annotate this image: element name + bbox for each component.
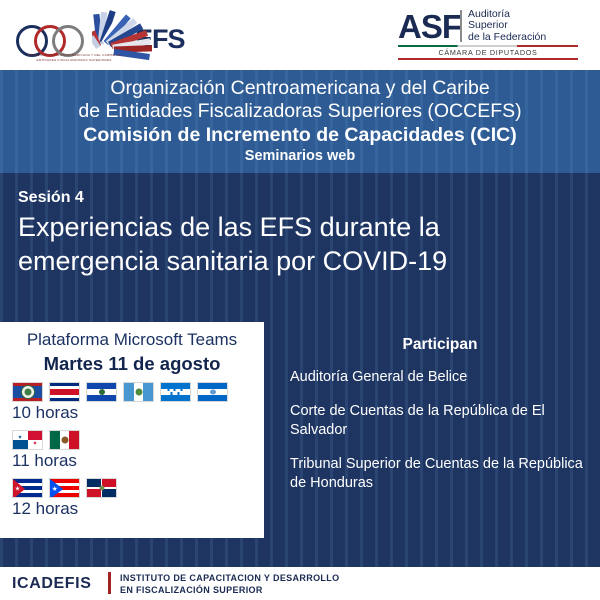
- header-line-1: Organización Centroamericana y del Carib…: [0, 77, 600, 100]
- flag-guatemala: [123, 382, 154, 402]
- flag-mexico: [49, 430, 80, 450]
- flag-nicaragua: [197, 382, 228, 402]
- asf-logo: ASF Auditoría Superior de la Federación …: [398, 8, 578, 60]
- footer-band: ICADEFIS Instituto de Capacitacion y Des…: [0, 567, 600, 600]
- logo-band: OCCEFS: [0, 0, 600, 70]
- occefs-logo: OCCEFS: [14, 6, 174, 66]
- icadefis-wordmark: ICADEFIS: [12, 575, 91, 593]
- schedule-rows: 10 horas: [12, 382, 262, 526]
- date-label: Martes 11 de agosto: [0, 353, 264, 375]
- flag-costa-rica: [49, 382, 80, 402]
- poster-canvas: Organización Centroamericana y del Carib…: [0, 0, 600, 600]
- icadefis-divider: [108, 572, 111, 594]
- session-label: Sesión 4: [18, 188, 588, 208]
- icadefis-tagline-line-1: Instituto de Capacitacion y Desarrollo: [120, 573, 339, 585]
- flag-group-10-horas: [12, 382, 262, 402]
- flag-honduras: [160, 382, 191, 402]
- platform-label: Plataforma Microsoft Teams: [0, 330, 264, 350]
- flag-guatemala-emblem: [135, 389, 142, 396]
- header-line-2: de Entidades Fiscalizadoras Superiores (…: [0, 100, 600, 123]
- header-text-group: Organización Centroamericana y del Carib…: [0, 77, 600, 166]
- schedule-panel: Plataforma Microsoft Teams Martes 11 de …: [0, 322, 264, 538]
- schedule-time: 10 horas: [12, 403, 262, 423]
- flag-el-salvador-emblem: [99, 389, 105, 395]
- participant-item: Auditoría General de Belice: [290, 368, 590, 387]
- occefs-tagline: ORGANIZACION CENTROAMERICANA Y DEL CARIB…: [18, 53, 130, 62]
- schedule-row: 10 horas: [12, 382, 262, 423]
- flag-puerto-rico: [49, 478, 80, 498]
- flag-mexico-emblem: [61, 437, 68, 444]
- flag-dominican-republic: [86, 478, 117, 498]
- schedule-time: 12 horas: [12, 499, 262, 519]
- header-line-3: Comisión de Incremento de Capacidades (C…: [0, 123, 600, 147]
- header-line-4: Seminarios web: [0, 147, 600, 166]
- asf-divider: [460, 10, 462, 42]
- flag-honduras-stars: [167, 389, 184, 395]
- asf-tagline-group: Auditoría Superior de la Federación: [468, 9, 546, 43]
- asf-tagline-2: Superior: [468, 20, 546, 31]
- flag-panama: [12, 430, 43, 450]
- participants-section: Participan Auditoría General de Belice C…: [290, 336, 590, 508]
- title-line-1: Experiencias de las EFS durante la: [18, 210, 588, 244]
- icadefis-tagline-line-2: en Fiscalización Superior: [120, 585, 339, 597]
- flag-cuba: [12, 478, 43, 498]
- title-line-2: emergencia sanitaria por COVID-19: [18, 244, 588, 278]
- flag-nicaragua-emblem: [210, 390, 216, 395]
- flag-group-12-horas: [12, 478, 262, 498]
- asf-tricolor-rule: [398, 45, 578, 47]
- asf-tagline-3: de la Federación: [468, 32, 546, 43]
- flag-belize: [12, 382, 43, 402]
- header-banner: Organización Centroamericana y del Carib…: [0, 70, 600, 173]
- flag-el-salvador: [86, 382, 117, 402]
- asf-subtitle: CÁMARA DE DIPUTADOS: [398, 48, 578, 57]
- participant-item: Tribunal Superior de Cuentas de la Repúb…: [290, 455, 590, 493]
- title-block: Sesión 4 Experiencias de las EFS durante…: [18, 188, 588, 278]
- schedule-row: 12 horas: [12, 478, 262, 519]
- flag-group-11-horas: [12, 430, 262, 450]
- asf-red-rule: [398, 58, 578, 60]
- flag-dominican-republic-emblem: [99, 486, 104, 491]
- schedule-row: 11 horas: [12, 430, 262, 471]
- asf-wordmark: ASF: [398, 8, 461, 46]
- icadefis-tagline: Instituto de Capacitacion y Desarrollo e…: [120, 573, 339, 596]
- participants-title: Participan: [290, 336, 590, 354]
- participant-item: Corte de Cuentas de la República de El S…: [290, 402, 590, 440]
- schedule-time: 11 horas: [12, 451, 262, 471]
